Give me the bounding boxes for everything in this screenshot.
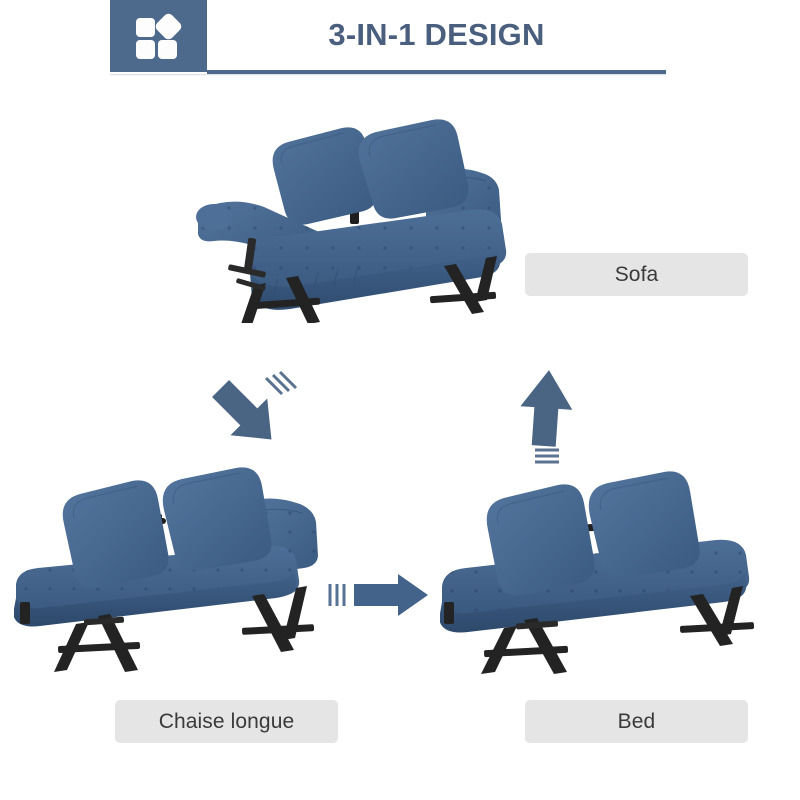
product-image-sofa bbox=[190, 118, 540, 323]
sofa-to-chaise-arrow bbox=[196, 372, 296, 456]
product-image-chaise-longue bbox=[14, 466, 354, 676]
header-underline-shadow bbox=[110, 74, 666, 76]
product-image-bed bbox=[440, 468, 770, 676]
header-badge bbox=[110, 0, 207, 72]
infographic-canvas: 3-IN-1 DESIGN bbox=[0, 0, 800, 800]
label-chip-chaise-longue: Chaise longue bbox=[115, 700, 338, 743]
page-title: 3-IN-1 DESIGN bbox=[207, 0, 666, 70]
chaise-to-bed-arrow bbox=[326, 572, 430, 618]
grid-square-top-right-diamond bbox=[153, 12, 183, 42]
grid-square-bottom-left bbox=[136, 40, 155, 59]
grid-square-top-left bbox=[136, 18, 155, 37]
header: 3-IN-1 DESIGN bbox=[110, 0, 666, 74]
label-chip-bed: Bed bbox=[525, 700, 748, 743]
grid-square-bottom-right bbox=[158, 40, 177, 59]
four-squares-grid-icon bbox=[136, 13, 182, 59]
bed-to-sofa-arrow bbox=[516, 368, 576, 468]
label-chip-sofa: Sofa bbox=[525, 253, 748, 296]
